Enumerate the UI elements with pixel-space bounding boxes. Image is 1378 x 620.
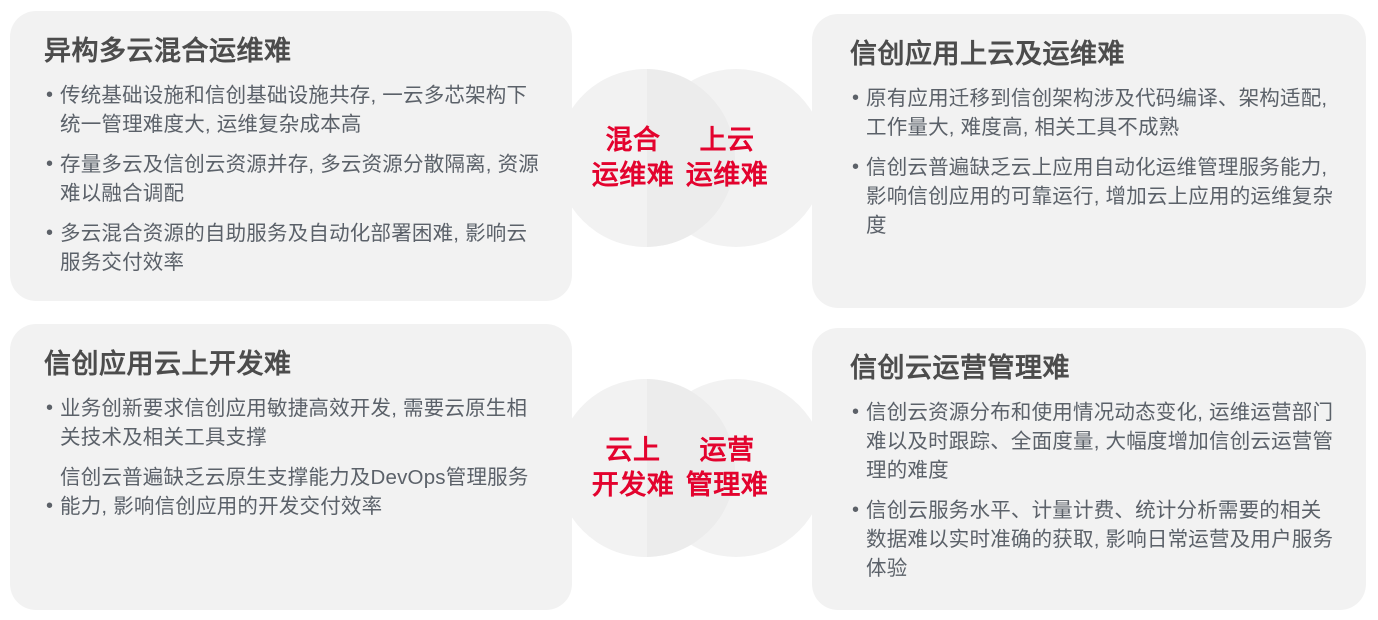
card-bottom-left-content: 信创应用云上开发难 • 业务创新要求信创应用敏捷高效开发, 需要云原生相关技术及… <box>10 324 572 542</box>
venn-label-right: 运营 管理难 <box>638 379 816 557</box>
bullet-dot-icon: • <box>850 84 866 113</box>
card-bottom-left: 信创应用云上开发难 • 业务创新要求信创应用敏捷高效开发, 需要云原生相关技术及… <box>10 324 572 610</box>
card-top-right: 信创应用上云及运维难 • 原有应用迁移到信创架构涉及代码编译、架构适配, 工作量… <box>812 14 1366 308</box>
bullet-text: 多云混合资源的自助服务及自动化部署困难, 影响云服务交付效率 <box>60 219 542 277</box>
venn-label-right-line1: 上云 <box>700 123 755 158</box>
bullet-dot-icon: • <box>44 463 60 521</box>
card-top-left: 异构多云混合运维难 • 传统基础设施和信创基础设施共存, 一云多芯架构下统一管理… <box>10 11 572 301</box>
bullet-item: • 存量多云及信创云资源并存, 多云资源分散隔离, 资源难以融合调配 <box>44 150 542 208</box>
bullet-dot-icon: • <box>850 153 866 182</box>
bullet-dot-icon: • <box>44 394 60 423</box>
bullet-text: 信创云普遍缺乏云原生支撑能力及DevOps管理服务能力, 影响信创应用的开发交付… <box>60 463 542 521</box>
card-bottom-right-bullet-list: • 信创云资源分布和使用情况动态变化, 运维运营部门难以及时跟踪、全面度量, 大… <box>850 398 1340 583</box>
bullet-text: 信创云资源分布和使用情况动态变化, 运维运营部门难以及时跟踪、全面度量, 大幅度… <box>866 398 1340 485</box>
venn-label-right-line2: 运维难 <box>686 158 769 193</box>
bullet-text: 存量多云及信创云资源并存, 多云资源分散隔离, 资源难以融合调配 <box>60 150 542 208</box>
venn-label-right-line1: 运营 <box>700 433 755 468</box>
venn-label-right: 上云 运维难 <box>638 69 816 247</box>
card-top-right-title: 信创应用上云及运维难 <box>850 38 1340 70</box>
bullet-text: 信创云服务水平、计量计费、统计分析需要的相关数据难以实时准确的获取, 影响日常运… <box>866 496 1340 583</box>
card-bottom-right-title: 信创云运营管理难 <box>850 352 1340 384</box>
card-bottom-left-title: 信创应用云上开发难 <box>44 348 542 380</box>
card-top-left-title: 异构多云混合运维难 <box>44 35 542 67</box>
bullet-dot-icon: • <box>44 81 60 110</box>
bullet-item: • 信创云普遍缺乏云原生支撑能力及DevOps管理服务能力, 影响信创应用的开发… <box>44 463 542 521</box>
card-bottom-right: 信创云运营管理难 • 信创云资源分布和使用情况动态变化, 运维运营部门难以及时跟… <box>812 328 1366 610</box>
bullet-item: • 信创云服务水平、计量计费、统计分析需要的相关数据难以实时准确的获取, 影响日… <box>850 496 1340 583</box>
bullet-dot-icon: • <box>44 219 60 248</box>
bullet-dot-icon: • <box>850 398 866 427</box>
bullet-item: • 业务创新要求信创应用敏捷高效开发, 需要云原生相关技术及相关工具支撑 <box>44 394 542 452</box>
card-top-right-content: 信创应用上云及运维难 • 原有应用迁移到信创架构涉及代码编译、架构适配, 工作量… <box>812 14 1366 261</box>
bullet-item: • 多云混合资源的自助服务及自动化部署困难, 影响云服务交付效率 <box>44 219 542 277</box>
venn-label-right-line2: 管理难 <box>686 468 769 503</box>
bullet-dot-icon: • <box>850 496 866 525</box>
card-bottom-left-bullet-list: • 业务创新要求信创应用敏捷高效开发, 需要云原生相关技术及相关工具支撑 • 信… <box>44 394 542 521</box>
venn-diagram-bottom: 云上 开发难 运营 管理难 <box>557 379 825 557</box>
bullet-dot-icon: • <box>44 150 60 179</box>
card-top-left-content: 异构多云混合运维难 • 传统基础设施和信创基础设施共存, 一云多芯架构下统一管理… <box>10 11 572 298</box>
bullet-item: • 传统基础设施和信创基础设施共存, 一云多芯架构下统一管理难度大, 运维复杂成… <box>44 81 542 139</box>
diagram-canvas: 异构多云混合运维难 • 传统基础设施和信创基础设施共存, 一云多芯架构下统一管理… <box>0 0 1378 620</box>
bullet-text: 信创云普遍缺乏云上应用自动化运维管理服务能力, 影响信创应用的可靠运行, 增加云… <box>866 153 1340 240</box>
bullet-text: 传统基础设施和信创基础设施共存, 一云多芯架构下统一管理难度大, 运维复杂成本高 <box>60 81 542 139</box>
card-bottom-right-content: 信创云运营管理难 • 信创云资源分布和使用情况动态变化, 运维运营部门难以及时跟… <box>812 328 1366 604</box>
card-top-left-bullet-list: • 传统基础设施和信创基础设施共存, 一云多芯架构下统一管理难度大, 运维复杂成… <box>44 81 542 277</box>
bullet-item: • 原有应用迁移到信创架构涉及代码编译、架构适配, 工作量大, 难度高, 相关工… <box>850 84 1340 142</box>
bullet-text: 原有应用迁移到信创架构涉及代码编译、架构适配, 工作量大, 难度高, 相关工具不… <box>866 84 1340 142</box>
bullet-item: • 信创云资源分布和使用情况动态变化, 运维运营部门难以及时跟踪、全面度量, 大… <box>850 398 1340 485</box>
bullet-text: 业务创新要求信创应用敏捷高效开发, 需要云原生相关技术及相关工具支撑 <box>60 394 542 452</box>
bullet-item: • 信创云普遍缺乏云上应用自动化运维管理服务能力, 影响信创应用的可靠运行, 增… <box>850 153 1340 240</box>
card-top-right-bullet-list: • 原有应用迁移到信创架构涉及代码编译、架构适配, 工作量大, 难度高, 相关工… <box>850 84 1340 240</box>
venn-diagram-top: 混合 运维难 上云 运维难 <box>557 69 825 247</box>
